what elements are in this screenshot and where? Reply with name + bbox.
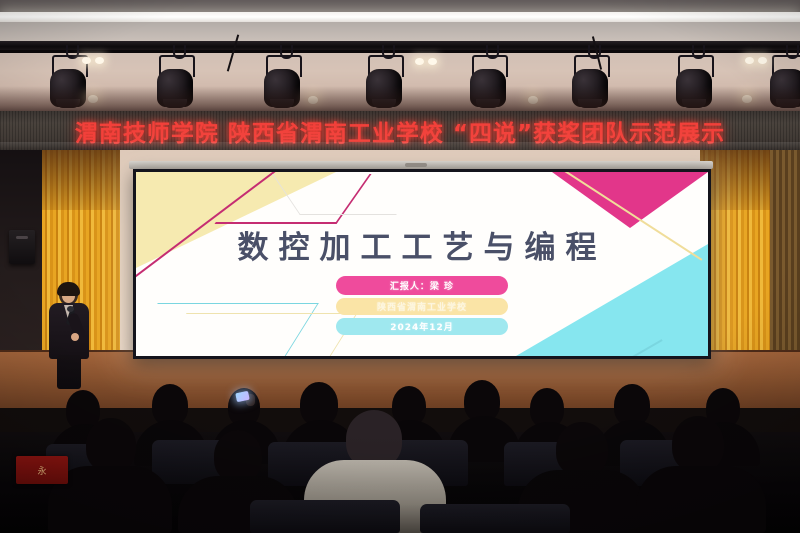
curtain-shade (42, 150, 120, 210)
led-banner: 渭南技师学院 陕西省渭南工业学校 “四说”获奖团队示范展示 (0, 111, 800, 151)
audience-head-front (86, 418, 136, 472)
projection-screen: 数控加工工艺与编程 汇报人：梁 珍 陕西省渭南工业学校 2024年12月 (133, 169, 711, 359)
ceiling-downlight (415, 58, 424, 65)
slide-pill-date: 2024年12月 (336, 318, 508, 335)
slide-title: 数控加工工艺与编程 (136, 222, 708, 267)
ceiling-downlight (758, 57, 767, 64)
desk-placard-text: 永 (16, 456, 68, 484)
auditorium-seat-front (250, 500, 400, 533)
slide-pill-group: 汇报人：梁 珍 陕西省渭南工业学校 2024年12月 (136, 276, 708, 335)
audience-head-front (672, 416, 724, 472)
presentation-slide: 数控加工工艺与编程 汇报人：梁 珍 陕西省渭南工业学校 2024年12月 (136, 172, 708, 356)
projector-screen-case (129, 161, 713, 169)
slide-pill-school: 陕西省渭南工业学校 (336, 298, 508, 315)
ceiling-shadow (0, 86, 800, 114)
presenter-hair (57, 282, 80, 296)
auditorium-photo: 渭南技师学院 陕西省渭南工业学校 “四说”获奖团队示范展示 数控加工工艺与编程 (0, 0, 800, 533)
wall-speaker-box (9, 230, 35, 264)
desk-placard: 永 (16, 456, 68, 484)
audience: 永 (0, 372, 800, 533)
slide-decoration-magenta-triangle (552, 172, 708, 228)
microphone-head (67, 306, 74, 312)
slide-pill-presenter: 汇报人：梁 珍 (336, 276, 508, 295)
ceiling-downlight (745, 57, 754, 64)
audience-shoulders-front (636, 466, 766, 533)
presenter-hand (71, 333, 79, 341)
audience-head-front (556, 422, 608, 476)
auditorium-seat-front (420, 504, 570, 533)
ceiling-downlight (82, 57, 91, 64)
ceiling-downlight (428, 58, 437, 65)
ceiling-downlight (95, 57, 104, 64)
audience-head-front (214, 430, 262, 482)
